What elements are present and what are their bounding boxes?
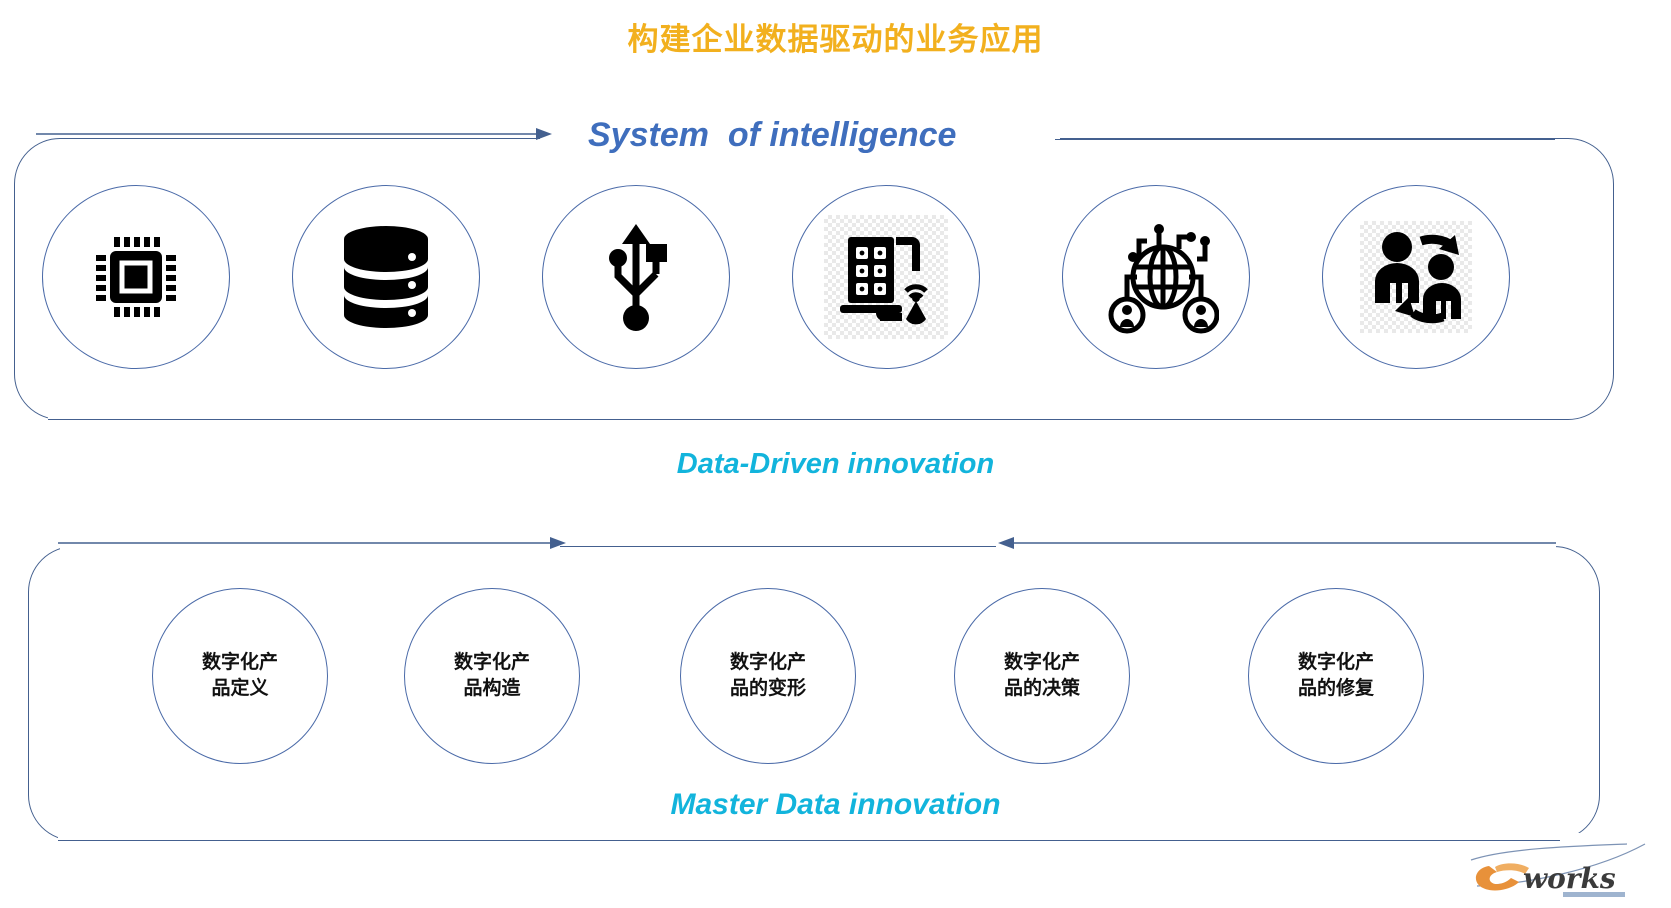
usb-icon: [590, 218, 682, 336]
lower-panel-bottom-left-gap: [58, 833, 308, 851]
slide-canvas: 构建企业数据驱动的业务应用 System of intelligence: [0, 0, 1671, 908]
smart-building-iot-icon: [830, 221, 942, 333]
globe-network-users-icon: [1093, 215, 1219, 339]
system-of-intelligence-headline: System of intelligence: [588, 116, 956, 155]
cpu-chip-icon: [84, 225, 188, 329]
node-digital-product-repair[interactable]: 数字化产 品的修复: [1248, 588, 1424, 764]
node-cpu-chip[interactable]: [42, 185, 230, 369]
node-digital-product-decision[interactable]: 数字化产 品的决策: [954, 588, 1130, 764]
database-icon: [336, 221, 436, 333]
eworks-mark: [1476, 863, 1529, 890]
page-title: 构建企业数据驱动的业务应用: [0, 14, 1671, 59]
node-digital-product-construction[interactable]: 数字化产 品构造: [404, 588, 580, 764]
node-label: 数字化产 品构造: [437, 650, 547, 701]
upper-panel-bottom-left-rule: [48, 419, 292, 420]
upper-panel-bottom-right-rule: [1258, 419, 1558, 420]
technology-icon-row: [0, 185, 1671, 375]
node-globe-network[interactable]: [1062, 185, 1250, 369]
eworks-logo: works: [1467, 842, 1663, 904]
node-digital-product-definition[interactable]: 数字化产 品定义: [152, 588, 328, 764]
people-exchange-icon: [1363, 225, 1469, 329]
node-people-exchange[interactable]: [1322, 185, 1510, 369]
upper-panel-bottom-right-gap: [1258, 412, 1558, 430]
eworks-wordmark: works: [1523, 862, 1616, 895]
upper-flow-arrow-right-icon: [36, 125, 556, 143]
data-driven-innovation-caption: Data-Driven innovation: [0, 448, 1671, 481]
lower-flow-arrow-right-icon: [58, 534, 568, 552]
lower-flow-arrow-left-icon: [996, 534, 1556, 552]
node-usb[interactable]: [542, 185, 730, 369]
node-label: 数字化产 品的变形: [713, 650, 823, 701]
node-smart-building[interactable]: [792, 185, 980, 369]
upper-headline-rule: [1055, 139, 1555, 140]
node-label: 数字化产 品的修复: [1281, 650, 1391, 701]
lower-panel-bottom-right-rule: [1300, 840, 1560, 841]
upper-panel-bottom-left-gap: [48, 412, 288, 430]
node-label: 数字化产 品的决策: [987, 650, 1097, 701]
lower-panel-bottom-left-rule: [58, 840, 308, 841]
digital-product-node-row: 数字化产 品定义 数字化产 品构造 数字化产 品的变形 数字化产 品的决策 数字…: [0, 588, 1671, 768]
node-label: 数字化产 品定义: [185, 650, 295, 701]
node-digital-product-deformation[interactable]: 数字化产 品的变形: [680, 588, 856, 764]
master-data-innovation-caption: Master Data innovation: [0, 788, 1671, 822]
node-database[interactable]: [292, 185, 480, 369]
